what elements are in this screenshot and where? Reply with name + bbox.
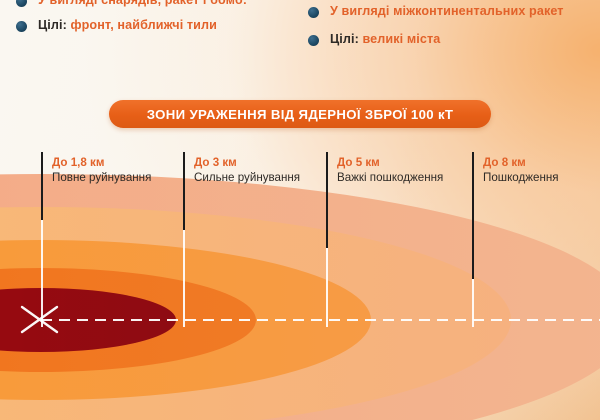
zone-distance: До 1,8 км — [52, 155, 151, 170]
bullet-highlight: великі міста — [363, 32, 441, 46]
bullet-prefix: Цілі: — [330, 32, 363, 46]
section-title-banner: ЗОНИ УРАЖЕННЯ ВІД ЯДЕРНОЇ ЗБРОЇ 100 кТ — [109, 100, 491, 128]
bullet-lists: У вигляді снарядів, ракет і бомб: Цілі: … — [0, 0, 600, 92]
bullet-text: У вигляді снарядів, ракет і бомб: — [38, 0, 247, 7]
list-item: Цілі: фронт, найближчі тили — [14, 16, 304, 34]
bullet-text: У вигляді міжконтинентальних ракет — [330, 4, 564, 18]
list-item: У вигляді міжконтинентальних ракет — [306, 2, 592, 20]
list-item: Цілі: великі міста — [306, 30, 592, 48]
zone-label-4: До 8 км Пошкодження — [474, 155, 559, 186]
zone-label-2: До 3 км Сильне руйнування — [185, 155, 300, 186]
bullet-highlight: фронт, найближчі тили — [71, 18, 217, 32]
bullet-dot-icon — [308, 7, 319, 18]
zone-description: Сильне руйнування — [194, 170, 300, 186]
infographic-canvas: У вигляді снарядів, ракет і бомб: Цілі: … — [0, 0, 600, 420]
zone-label-3: До 5 км Важкі пошкодження — [328, 155, 443, 186]
bullet-prefix: Цілі: — [38, 18, 71, 32]
bullet-text: Цілі: великі міста — [330, 32, 440, 46]
bullet-dot-icon — [16, 0, 27, 7]
zone-description: Пошкодження — [483, 170, 559, 186]
bullet-dot-icon — [308, 35, 319, 46]
page-title: ЗОНИ УРАЖЕННЯ ВІД ЯДЕРНОЇ ЗБРОЇ 100 кТ — [147, 107, 454, 122]
zone-distance: До 8 км — [483, 155, 559, 170]
zone-distance: До 3 км — [194, 155, 300, 170]
bullet-text: Цілі: фронт, найближчі тили — [38, 18, 217, 32]
list-item: У вигляді снарядів, ракет і бомб: — [14, 0, 304, 9]
bullet-column-left: У вигляді снарядів, ракет і бомб: Цілі: … — [14, 0, 304, 44]
zone-label-1: До 1,8 км Повне руйнування — [43, 155, 151, 186]
bullet-column-right: У вигляді міжконтинентальних ракет Цілі:… — [306, 0, 592, 44]
bullet-dot-icon — [16, 21, 27, 32]
zone-distance: До 5 км — [337, 155, 443, 170]
zone-description: Повне руйнування — [52, 170, 151, 186]
zone-description: Важкі пошкодження — [337, 170, 443, 186]
